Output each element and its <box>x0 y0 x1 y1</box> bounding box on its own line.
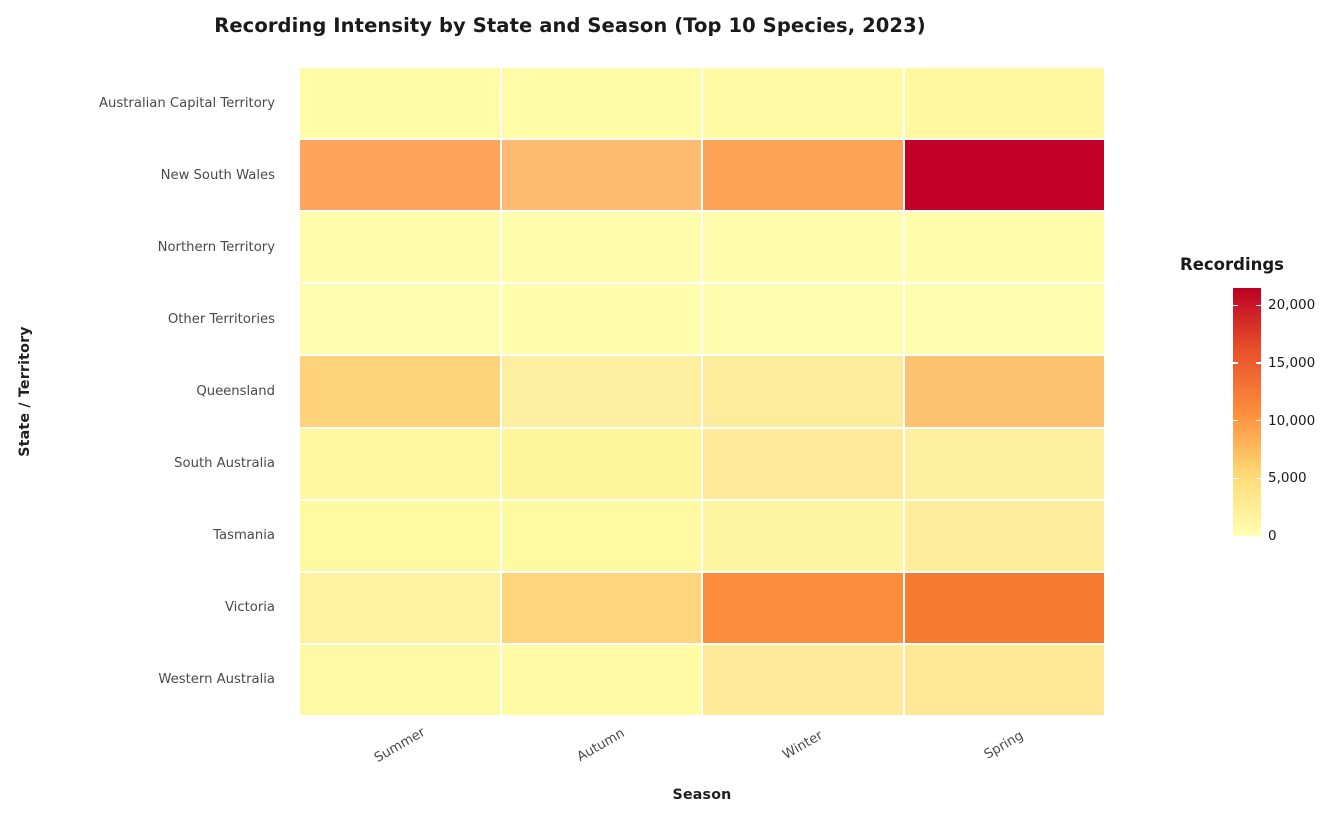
colorbar-gradient <box>1233 288 1261 536</box>
x-tick-slot-spring: Spring <box>904 716 1106 782</box>
heatmap-cell-south-australia-autumn[interactable] <box>501 428 703 500</box>
x-tick-label-spring: Spring <box>982 728 1026 762</box>
heatmap-cell-other-territories-autumn[interactable] <box>501 283 703 355</box>
heatmap-cell-australian-capital-territory-autumn[interactable] <box>501 67 703 139</box>
colorbar-tickmark-20000-left <box>1233 305 1238 307</box>
heatmap-cell-new-south-wales-autumn[interactable] <box>501 139 703 211</box>
heatmap-cell-western-australia-autumn[interactable] <box>501 644 703 716</box>
y-tick-label-act: Australian Capital Territory <box>0 67 287 139</box>
colorbar-tick-labels: 05,00010,00015,00020,000 <box>1268 288 1340 536</box>
heatmap-cell-tasmania-winter[interactable] <box>702 500 904 572</box>
heatmap-cell-northern-territory-autumn[interactable] <box>501 211 703 283</box>
heatmap-cell-other-territories-spring[interactable] <box>904 283 1106 355</box>
heatmap-cell-queensland-autumn[interactable] <box>501 355 703 427</box>
heatmap-cell-western-australia-summer[interactable] <box>299 644 501 716</box>
heatmap-cell-australian-capital-territory-winter[interactable] <box>702 67 904 139</box>
heatmap-cell-new-south-wales-spring[interactable] <box>904 139 1106 211</box>
y-tick-label-sa: South Australia <box>0 428 287 500</box>
heatmap-cell-western-australia-spring[interactable] <box>904 644 1106 716</box>
colorbar-tick-10000: 10,000 <box>1268 413 1315 429</box>
heatmap-cell-new-south-wales-summer[interactable] <box>299 139 501 211</box>
x-tick-label-autumn: Autumn <box>575 726 628 765</box>
colorbar-tick-0: 0 <box>1268 528 1277 544</box>
heatmap-cell-victoria-winter[interactable] <box>702 572 904 644</box>
x-tick-label-summer: Summer <box>372 725 428 766</box>
heatmap-cell-other-territories-summer[interactable] <box>299 283 501 355</box>
colorbar-bar <box>1233 288 1261 536</box>
y-tick-label-nsw: New South Wales <box>0 139 287 211</box>
colorbar-tickmark-15000-left <box>1233 362 1238 364</box>
heatmap-cell-queensland-spring[interactable] <box>904 355 1106 427</box>
heatmap-cell-northern-territory-spring[interactable] <box>904 211 1106 283</box>
colorbar-tickmark-15000-right <box>1256 362 1261 364</box>
heatmap-cell-australian-capital-territory-spring[interactable] <box>904 67 1106 139</box>
y-tick-label-other: Other Territories <box>0 283 287 355</box>
heatmap-grid <box>299 67 1105 716</box>
y-tick-label-tas: Tasmania <box>0 500 287 572</box>
heatmap-cell-australian-capital-territory-summer[interactable] <box>299 67 501 139</box>
x-tick-label-winter: Winter <box>780 728 825 763</box>
heatmap-cell-victoria-spring[interactable] <box>904 572 1106 644</box>
heatmap-cell-victoria-autumn[interactable] <box>501 572 703 644</box>
colorbar-title: Recordings <box>1180 255 1284 274</box>
y-tick-label-qld: Queensland <box>0 355 287 427</box>
y-tick-label-vic: Victoria <box>0 572 287 644</box>
heatmap-cell-queensland-summer[interactable] <box>299 355 501 427</box>
heatmap-cell-western-australia-winter[interactable] <box>702 644 904 716</box>
x-tick-slot-winter: Winter <box>702 716 904 782</box>
y-tick-label-wa: Western Australia <box>0 644 287 716</box>
plot-area <box>299 67 1105 716</box>
heatmap-cell-south-australia-summer[interactable] <box>299 428 501 500</box>
heatmap-cell-northern-territory-summer[interactable] <box>299 211 501 283</box>
heatmap-cell-queensland-winter[interactable] <box>702 355 904 427</box>
colorbar-tickmark-10000-right <box>1256 420 1261 422</box>
heatmap-cell-tasmania-autumn[interactable] <box>501 500 703 572</box>
heatmap-cell-northern-territory-winter[interactable] <box>702 211 904 283</box>
heatmap-cell-tasmania-summer[interactable] <box>299 500 501 572</box>
page-title: Recording Intensity by State and Season … <box>0 14 1140 37</box>
heatmap-cell-victoria-summer[interactable] <box>299 572 501 644</box>
colorbar-tickmark-20000-right <box>1256 305 1261 307</box>
heatmap-cell-tasmania-spring[interactable] <box>904 500 1106 572</box>
colorbar-tick-5000: 5,000 <box>1268 470 1307 486</box>
heatmap-cell-south-australia-spring[interactable] <box>904 428 1106 500</box>
y-axis-tick-labels: Australian Capital Territory New South W… <box>0 67 287 716</box>
x-tick-slot-autumn: Autumn <box>501 716 703 782</box>
heatmap-cell-other-territories-winter[interactable] <box>702 283 904 355</box>
colorbar-legend: Recordings 05,00010,00015,00020,000 <box>1180 255 1340 555</box>
y-tick-label-nt: Northern Territory <box>0 211 287 283</box>
colorbar-tick-20000: 20,000 <box>1268 297 1315 313</box>
heatmap-cell-new-south-wales-winter[interactable] <box>702 139 904 211</box>
heatmap-figure: Recording Intensity by State and Season … <box>0 0 1344 830</box>
heatmap-cell-south-australia-winter[interactable] <box>702 428 904 500</box>
x-tick-slot-summer: Summer <box>299 716 501 782</box>
x-axis-title: Season <box>299 787 1105 803</box>
colorbar-tickmark-5000-right <box>1256 478 1261 480</box>
colorbar-tickmark-10000-left <box>1233 420 1238 422</box>
colorbar-tickmark-5000-left <box>1233 478 1238 480</box>
x-axis-tick-labels: Summer Autumn Winter Spring <box>299 716 1105 782</box>
colorbar-tick-15000: 15,000 <box>1268 355 1315 371</box>
